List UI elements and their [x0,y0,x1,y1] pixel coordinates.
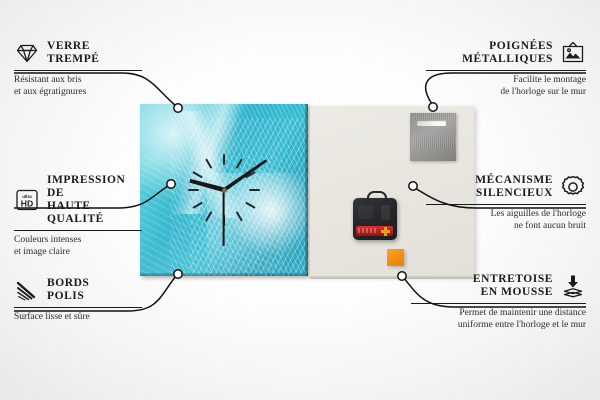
callout-poignees-metalliques: POIGNÉES MÉTALLIQUES Facilite le montage… [426,40,586,98]
foam-spacer-icon [560,273,586,299]
callout-bords-polis: BORDS POLIS Surface lisse et sûre [14,277,142,324]
metal-hanger-plate [410,113,456,161]
callout-verre-trempe: VERRE TREMPÉ Résistant aux bris et aux é… [14,40,142,98]
callout-divider [411,303,586,304]
callout-subtitle: Les aiguilles de l'horloge ne font aucun… [426,209,586,232]
movement-detail [358,206,373,219]
ultra-hd-icon: ultra HD [14,187,40,213]
battery-plus-icon [381,227,390,236]
callout-divider [14,307,142,308]
panel-edge-right [305,104,308,276]
battery-label [358,228,378,233]
clock-center-cap [222,188,227,193]
callout-subtitle: Résistant aux bris et aux égratignures [14,75,142,98]
foam-spacer [387,249,404,266]
infographic-canvas: VERRE TREMPÉ Résistant aux bris et aux é… [0,0,600,400]
callout-divider [14,70,142,71]
wall-mount-frame-icon [560,40,586,66]
callout-title: POIGNÉES MÉTALLIQUES [462,40,553,66]
callout-title: VERRE TREMPÉ [47,40,100,66]
movement-detail [381,205,391,220]
svg-text:HD: HD [21,199,33,209]
polished-edges-icon [14,277,40,303]
movement-hanging-loop [367,191,387,204]
callout-title: BORDS POLIS [47,277,89,303]
callout-impression-hd: ultra HD IMPRESSION DE HAUTE QUALITÉ Cou… [14,174,142,258]
battery [356,226,393,236]
diamond-icon [14,40,40,66]
callout-subtitle: Surface lisse et sûre [14,312,142,324]
callout-title: ENTRETOISE EN MOUSSE [473,273,553,299]
callout-entretoise-mousse: ENTRETOISE EN MOUSSE Permet de maintenir… [411,273,586,331]
clock-face-panel [140,104,308,276]
callout-subtitle: Couleurs intenses et image claire [14,235,142,258]
callout-subtitle: Permet de maintenir une distance uniform… [411,308,586,331]
callout-subtitle: Facilite le montage de l'horloge sur le … [426,75,586,98]
hanger-keyhole-slot [417,120,446,125]
callout-title: MÉCANISME SILENCIEUX [475,174,553,200]
panel-edge-bottom [140,273,308,276]
callout-divider [426,70,586,71]
callout-mecanisme-silencieux: MÉCANISME SILENCIEUX Les aiguilles de l'… [426,174,586,232]
clock-second-hand [223,190,225,246]
gear-icon [560,174,586,200]
callout-divider [14,230,142,231]
callout-title: IMPRESSION DE HAUTE QUALITÉ [47,174,142,226]
callout-divider [426,204,586,205]
clock-movement [353,198,397,240]
product-imagery [140,104,470,280]
